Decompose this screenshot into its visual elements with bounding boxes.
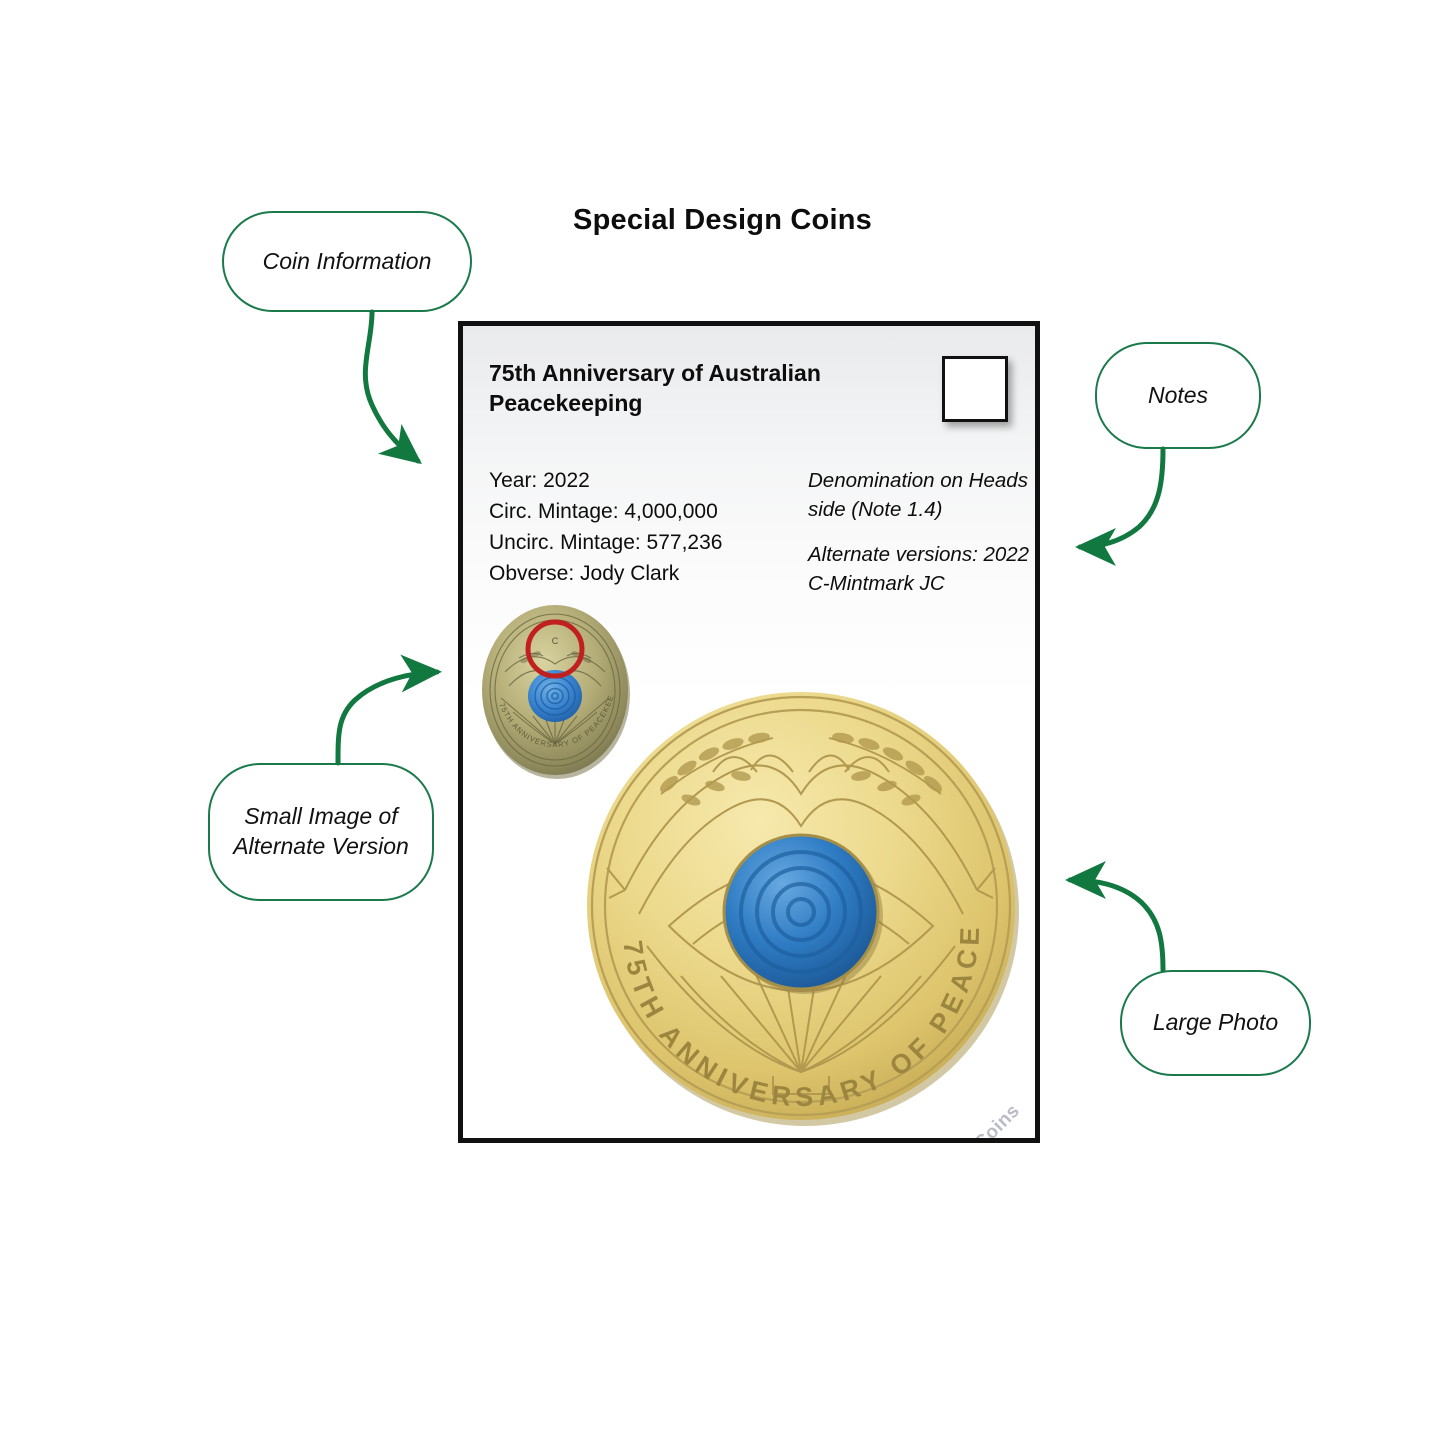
arrow-large-photo	[1070, 880, 1163, 970]
large-coin-graphic: 75TH ANNIVERSARY OF PEACEKEEPING	[573, 676, 1033, 1136]
coin-notes-column: Denomination on Heads side (Note 1.4) Al…	[808, 466, 1033, 598]
callout-large-photo[interactable]: Large Photo	[1120, 970, 1311, 1076]
spec-obverse: Obverse: Jody Clark	[489, 559, 819, 590]
note-denomination: Denomination on Heads side (Note 1.4)	[808, 466, 1033, 524]
note-alternate-versions: Alternate versions: 2022 C-Mintmark JC	[808, 540, 1033, 598]
coin-spec-list: Year: 2022 Circ. Mintage: 4,000,000 Unci…	[489, 466, 819, 589]
spec-year: Year: 2022	[489, 466, 819, 497]
callout-coin-information[interactable]: Coin Information	[222, 211, 472, 312]
large-coin-image[interactable]: 75TH ANNIVERSARY OF PEACEKEEPING	[573, 676, 1033, 1136]
spec-circ-mintage: Circ. Mintage: 4,000,000	[489, 497, 819, 528]
callout-notes[interactable]: Notes	[1095, 342, 1261, 449]
card-heading: 75th Anniversary of Australian Peacekeep…	[489, 358, 889, 419]
callout-small-image-alternate-version[interactable]: Small Image of Alternate Version	[208, 763, 434, 901]
spec-uncirc-mintage: Uncirc. Mintage: 577,236	[489, 528, 819, 559]
page-title-text: Special Design Coins	[573, 204, 872, 237]
notes-checkbox[interactable]	[942, 356, 1008, 422]
page-title: Special Design Coins	[0, 204, 1445, 237]
arrow-notes	[1080, 449, 1163, 547]
svg-text:C: C	[552, 636, 559, 646]
coin-card: 75th Anniversary of Australian Peacekeep…	[458, 321, 1040, 1143]
arrow-coin-information	[365, 312, 418, 461]
arrow-small-image	[338, 672, 437, 763]
